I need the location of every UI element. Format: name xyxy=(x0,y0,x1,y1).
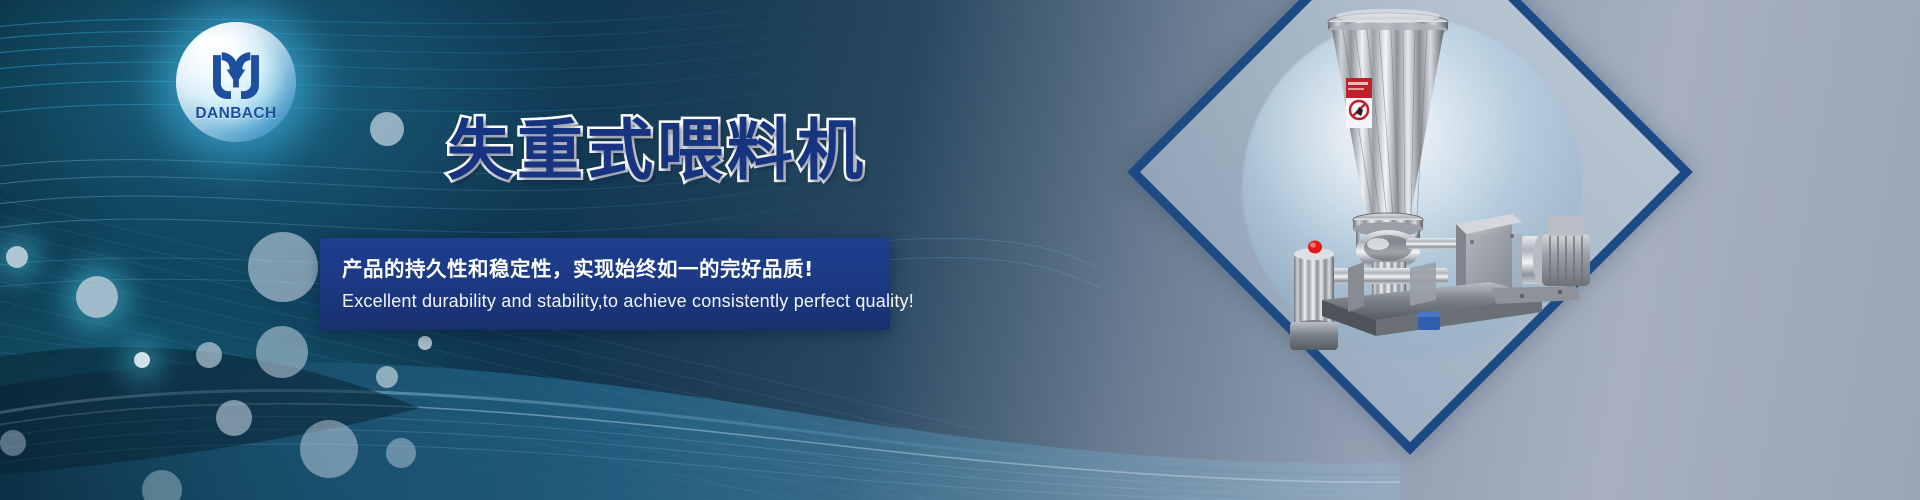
red-knob-icon xyxy=(1290,241,1338,351)
db-monogram-icon xyxy=(199,48,273,104)
danbach-logo[interactable]: DANBACH xyxy=(176,22,296,142)
tagline-chinese: 产品的持久性和稳定性，实现始终如一的完好品质! xyxy=(342,252,890,282)
product-showcase xyxy=(1090,0,1920,500)
product-banner: DANBACH 失重式喂料机 产品的持久性和稳定性，实现始终如一的完好品质! E… xyxy=(0,0,1920,500)
tagline-box: 产品的持久性和稳定性，实现始终如一的完好品质! Excellent durabi… xyxy=(320,238,890,330)
page-title: 失重式喂料机 xyxy=(447,118,867,184)
warning-label-icon xyxy=(1346,78,1372,128)
light-ray-grid-icon xyxy=(0,180,1000,500)
brand-name: DANBACH xyxy=(195,105,276,123)
gear-motor-icon xyxy=(1522,216,1590,286)
loss-in-weight-feeder-image xyxy=(1260,0,1590,370)
tagline-english: Excellent durability and stability,to ac… xyxy=(342,291,890,312)
